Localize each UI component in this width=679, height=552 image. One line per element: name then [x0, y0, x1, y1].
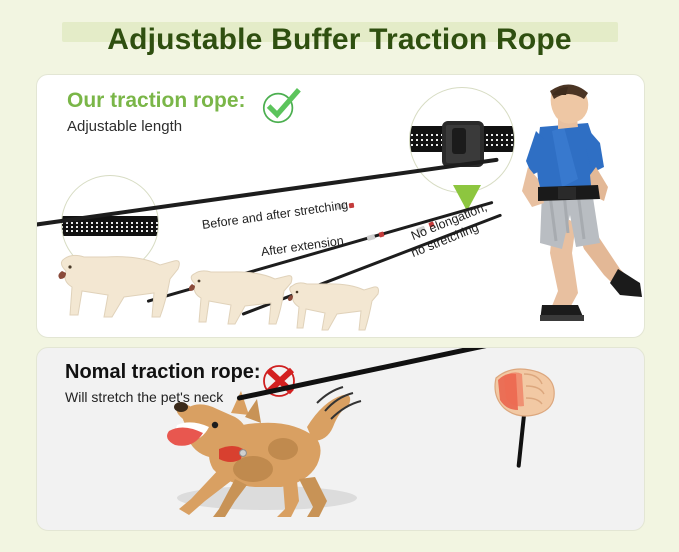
dog-photo-1 [48, 245, 188, 327]
leash-stop-1 [349, 203, 355, 209]
leash-node-2 [366, 234, 375, 241]
bottom-panel: Nomal traction rope: Will stretch the pe… [36, 347, 645, 531]
top-panel-heading: Our traction rope: [67, 89, 246, 113]
check-icon [259, 85, 301, 127]
infographic-root: Adjustable Buffer Traction Rope Our trac… [0, 0, 679, 552]
top-panel-subheading: Adjustable length [67, 118, 182, 135]
caption-before-after-stretching: Before and after stretching [201, 198, 349, 232]
page-title-wrap: Adjustable Buffer Traction Rope [0, 18, 679, 62]
bottom-panel-heading: Nomal traction rope: [65, 361, 261, 384]
page-title: Adjustable Buffer Traction Rope [107, 23, 572, 57]
runner-photo [492, 83, 642, 333]
cartoon-dog-illustration [157, 383, 387, 518]
dog-photo-3 [280, 275, 384, 337]
leash-stop-2 [378, 231, 384, 237]
gripping-hand-illustration [480, 356, 560, 436]
